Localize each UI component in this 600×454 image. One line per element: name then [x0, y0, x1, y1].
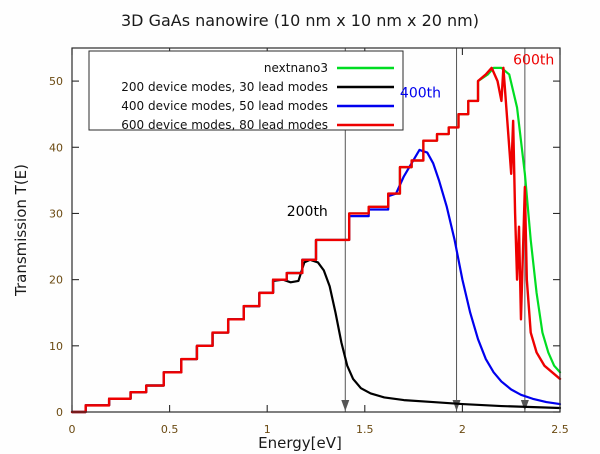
x-tick-label: 0.5: [161, 423, 179, 436]
page-title: 3D GaAs nanowire (10 nm x 10 nm x 20 nm): [121, 11, 479, 30]
annotation-600th: 600th: [513, 53, 554, 69]
x-tick-label: 2: [459, 423, 466, 436]
y-tick-label: 30: [49, 207, 63, 220]
y-tick-label: 50: [49, 75, 63, 88]
x-tick-label: 1.5: [356, 423, 374, 436]
x-tick-label: 0: [69, 423, 76, 436]
y-tick-label: 40: [49, 141, 63, 154]
annotation-200th: 200th: [287, 204, 328, 220]
y-axis-label: Transmission T(E): [12, 164, 30, 297]
legend-label-1: 200 device modes, 30 lead modes: [121, 80, 328, 94]
legend-label-0: nextnano3: [264, 61, 328, 75]
annotation-400th: 400th: [400, 86, 441, 102]
y-tick-label: 20: [49, 274, 63, 287]
transmission-chart: 3D GaAs nanowire (10 nm x 10 nm x 20 nm)…: [0, 0, 600, 454]
chart-legend: nextnano3200 device modes, 30 lead modes…: [89, 51, 403, 132]
y-tick-label: 10: [49, 340, 63, 353]
x-axis-label: Energy[eV]: [258, 434, 342, 452]
legend-label-3: 600 device modes, 80 lead modes: [121, 118, 328, 132]
x-tick-label: 2.5: [551, 423, 569, 436]
legend-label-2: 400 device modes, 50 lead modes: [121, 99, 328, 113]
y-tick-label: 0: [56, 406, 63, 419]
